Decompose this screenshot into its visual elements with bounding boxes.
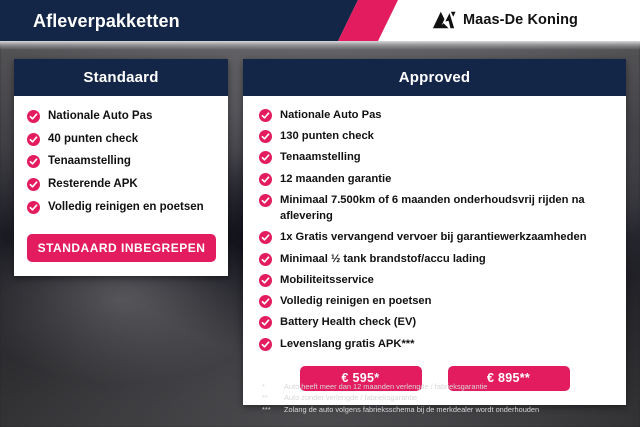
feature-text: 1x Gratis vervangend vervoer bij garanti… <box>280 229 587 245</box>
check-circle-icon <box>259 316 272 329</box>
feature-text: Levenslang gratis APK*** <box>280 336 415 352</box>
list-item: Minimaal 7.500km of 6 maanden onderhouds… <box>259 192 610 224</box>
card-approved: Approved Nationale Auto Pas 130 punten c <box>243 59 626 405</box>
feature-text: Minimaal 7.500km of 6 maanden onderhouds… <box>280 192 610 224</box>
check-circle-icon <box>259 173 272 186</box>
standaard-inbegrepen-button[interactable]: STANDAARD INBEGREPEN <box>27 234 216 262</box>
list-item: Levenslang gratis APK*** <box>259 336 610 352</box>
banner-shadow <box>0 41 640 50</box>
check-circle-icon <box>259 295 272 308</box>
check-circle-icon <box>27 178 40 191</box>
list-item: Volledig reinigen en poetsen <box>27 199 216 216</box>
page-root: Afleverpakketten Maas-De Koning Standaar… <box>0 0 640 427</box>
footnotes: * Auto heeft meer dan 12 maanden verleng… <box>262 381 632 415</box>
check-circle-icon <box>27 133 40 146</box>
approved-feature-list: Nationale Auto Pas 130 punten check Tena… <box>259 107 610 352</box>
footnote-marker: * <box>262 381 284 392</box>
footnote-text: Auto heeft meer dan 12 maanden verlengde… <box>284 381 487 392</box>
card-approved-header: Approved <box>243 59 626 96</box>
feature-text: Volledig reinigen en poetsen <box>280 293 431 309</box>
feature-text: 12 maanden garantie <box>280 171 391 187</box>
brand-name: Maas-De Koning <box>463 12 578 28</box>
check-circle-icon <box>27 201 40 214</box>
list-item: Mobiliteitsservice <box>259 272 610 288</box>
feature-text: 40 punten check <box>48 131 138 148</box>
list-item: Battery Health check (EV) <box>259 314 610 330</box>
list-item: Tenaamstelling <box>259 149 610 165</box>
list-item: Resterende APK <box>27 176 216 193</box>
check-circle-icon <box>259 338 272 351</box>
card-standaard-header: Standaard <box>14 59 228 96</box>
list-item: 130 punten check <box>259 128 610 144</box>
top-banner: Afleverpakketten Maas-De Koning <box>0 0 640 41</box>
card-approved-title: Approved <box>399 69 471 86</box>
list-item: Nationale Auto Pas <box>27 108 216 125</box>
footnote-marker: *** <box>262 404 284 415</box>
check-circle-icon <box>259 274 272 287</box>
list-item: 40 punten check <box>27 131 216 148</box>
footnote-single-asterisk: * Auto heeft meer dan 12 maanden verleng… <box>262 381 632 392</box>
feature-text: Nationale Auto Pas <box>280 107 382 123</box>
check-circle-icon <box>259 253 272 266</box>
list-item: Nationale Auto Pas <box>259 107 610 123</box>
list-item: Tenaamstelling <box>27 153 216 170</box>
card-approved-body: Nationale Auto Pas 130 punten check Tena… <box>243 96 626 405</box>
feature-text: Nationale Auto Pas <box>48 108 152 125</box>
list-item: 12 maanden garantie <box>259 171 610 187</box>
card-standaard-body: Nationale Auto Pas 40 punten check Tenaa… <box>14 96 228 276</box>
standaard-feature-list: Nationale Auto Pas 40 punten check Tenaa… <box>27 108 216 215</box>
list-item: Minimaal ½ tank brandstof/accu lading <box>259 251 610 267</box>
check-circle-icon <box>259 151 272 164</box>
check-circle-icon <box>259 231 272 244</box>
check-circle-icon <box>27 155 40 168</box>
footnote-text: Zolang de auto volgens fabrieksschema bi… <box>284 404 539 415</box>
feature-text: Resterende APK <box>48 176 138 193</box>
feature-text: Volledig reinigen en poetsen <box>48 199 204 216</box>
check-circle-icon <box>259 130 272 143</box>
list-item: Volledig reinigen en poetsen <box>259 293 610 309</box>
footnote-triple-asterisk: *** Zolang de auto volgens fabrieksschem… <box>262 404 632 415</box>
brand-logo: Maas-De Koning <box>432 10 578 30</box>
feature-text: Tenaamstelling <box>48 153 131 170</box>
page-title: Afleverpakketten <box>33 11 180 32</box>
feature-text: Mobiliteitsservice <box>280 272 374 288</box>
check-circle-icon <box>27 110 40 123</box>
list-item: 1x Gratis vervangend vervoer bij garanti… <box>259 229 610 245</box>
footnote-double-asterisk: ** Auto zonder verlengde / fabrieksgaran… <box>262 392 632 403</box>
check-circle-icon <box>259 194 272 207</box>
footnote-marker: ** <box>262 392 284 403</box>
maas-de-koning-m-logo-icon <box>432 10 456 30</box>
card-standaard: Standaard Nationale Auto Pas 40 punten c <box>14 59 228 276</box>
feature-text: Tenaamstelling <box>280 149 361 165</box>
feature-text: 130 punten check <box>280 128 374 144</box>
footnote-text: Auto zonder verlengde / fabrieksgarantie <box>284 392 417 403</box>
feature-text: Minimaal ½ tank brandstof/accu lading <box>280 251 486 267</box>
card-standaard-title: Standaard <box>83 69 158 86</box>
feature-text: Battery Health check (EV) <box>280 314 416 330</box>
check-circle-icon <box>259 109 272 122</box>
